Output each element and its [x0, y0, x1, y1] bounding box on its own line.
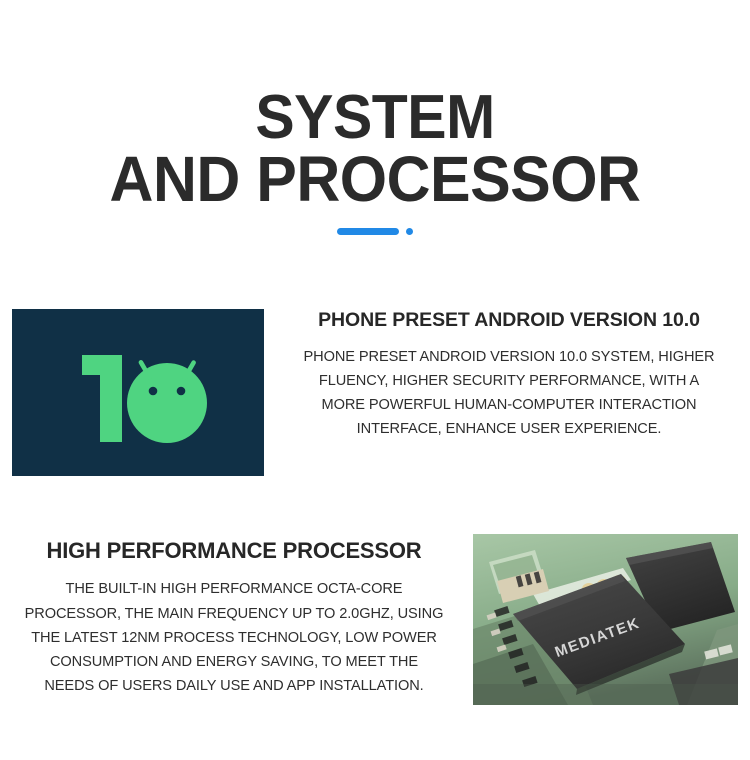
body-line: INTERFACE, ENHANCE USER EXPERIENCE. [268, 417, 750, 441]
body-line: PHONE PRESET ANDROID VERSION 10.0 SYSTEM… [268, 345, 750, 369]
processor-body: THE BUILT-IN HIGH PERFORMANCE OCTA-CORE … [0, 577, 468, 698]
page-title: SYSTEM AND PROCESSOR [19, 88, 732, 211]
section-divider [0, 228, 750, 235]
processor-copy: HIGH PERFORMANCE PROCESSOR THE BUILT-IN … [0, 532, 468, 698]
section-android-version: PHONE PRESET ANDROID VERSION 10.0 PHONE … [0, 309, 750, 489]
body-line: THE LATEST 12NM PROCESS TECHNOLOGY, LOW … [0, 626, 468, 650]
body-line: MORE POWERFUL HUMAN-COMPUTER INTERACTION [268, 393, 750, 417]
divider-bar-icon [337, 228, 399, 235]
divider-dot-icon [406, 228, 413, 235]
section-processor: HIGH PERFORMANCE PROCESSOR THE BUILT-IN … [0, 532, 750, 712]
android-version-body: PHONE PRESET ANDROID VERSION 10.0 SYSTEM… [268, 345, 750, 442]
mediatek-chip-image: MEDIATEK [473, 534, 738, 705]
body-line: THE BUILT-IN HIGH PERFORMANCE OCTA-CORE [0, 577, 468, 601]
body-line: PROCESSOR, THE MAIN FREQUENCY UP TO 2.0G… [0, 602, 468, 626]
android-10-logo-icon [12, 309, 264, 476]
page-title-line-2: AND PROCESSOR [19, 148, 732, 211]
body-line: CONSUMPTION AND ENERGY SAVING, TO MEET T… [0, 650, 468, 674]
android-version-heading: PHONE PRESET ANDROID VERSION 10.0 [268, 309, 750, 332]
android-version-copy: PHONE PRESET ANDROID VERSION 10.0 PHONE … [268, 309, 750, 441]
body-line: NEEDS OF USERS DAILY USE AND APP INSTALL… [0, 674, 468, 698]
processor-heading: HIGH PERFORMANCE PROCESSOR [0, 538, 468, 563]
circuit-board-photo-icon: MEDIATEK [473, 534, 738, 705]
body-line: FLUENCY, HIGHER SECURITY PERFORMANCE, WI… [268, 369, 750, 393]
android-10-logo-image [12, 309, 264, 476]
page-title-line-1: SYSTEM [19, 88, 732, 149]
